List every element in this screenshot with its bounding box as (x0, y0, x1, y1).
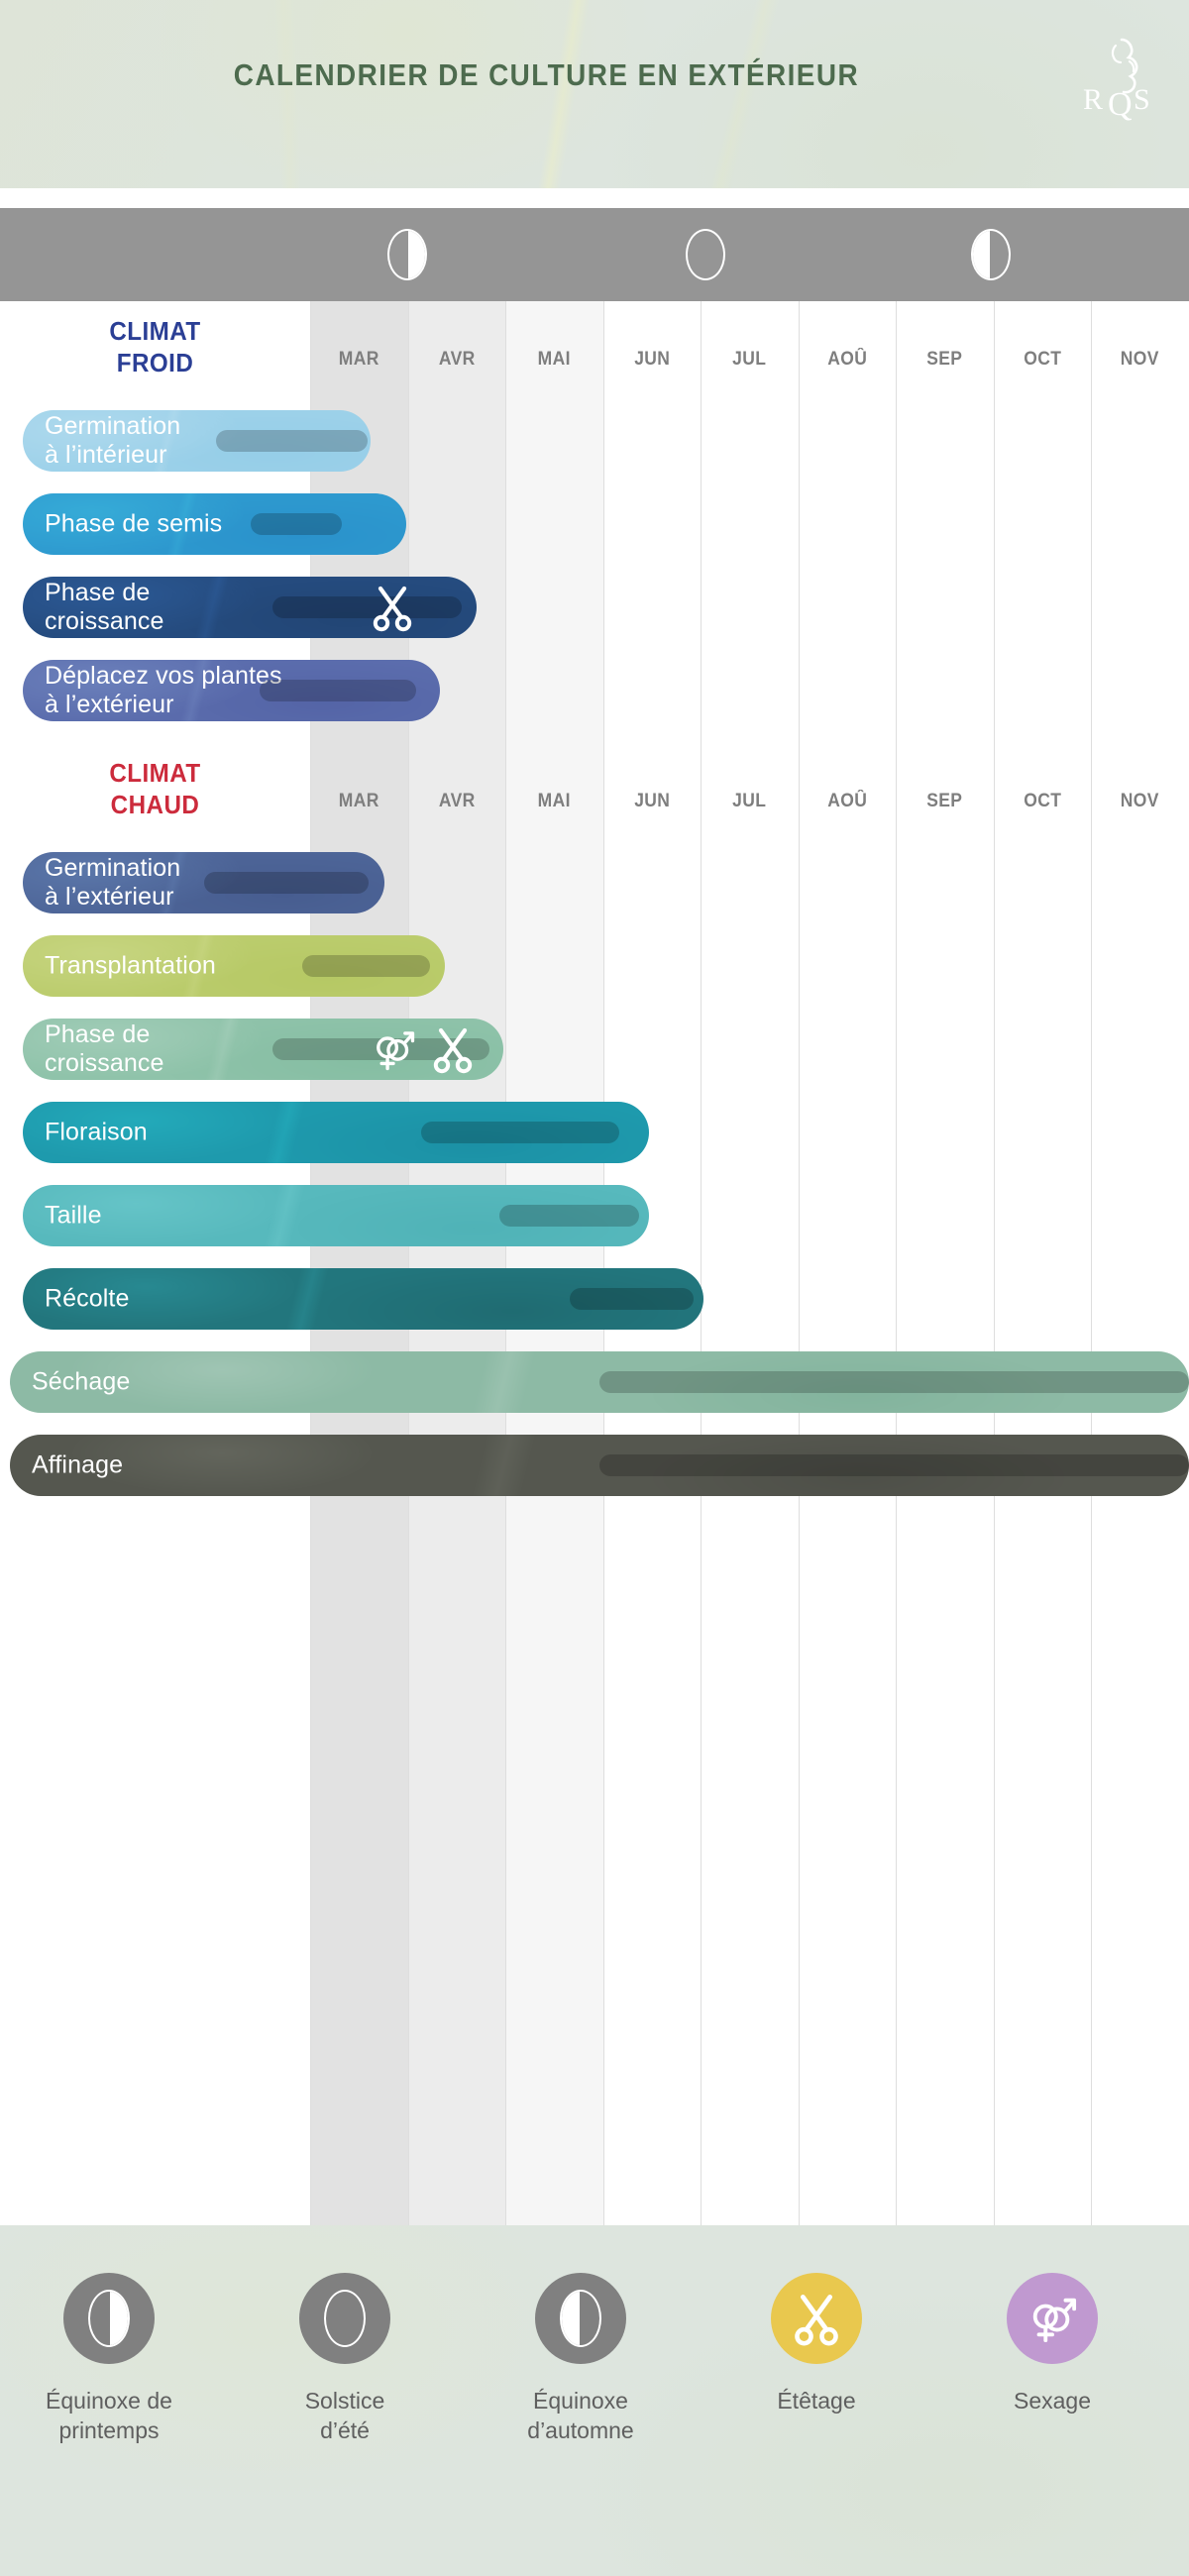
sexing-icon (1027, 2288, 1077, 2349)
bar-optimal-range (599, 1371, 1189, 1393)
page-header: CALENDRIER DE CULTURE EN EXTÉRIEUR R Q S (0, 0, 1189, 188)
month-label-aoû: AOÛ (802, 345, 892, 375)
month-column-shade (505, 301, 603, 2225)
month-gridline (994, 301, 995, 2225)
month-label-jul: JUL (704, 345, 795, 375)
bar-label: Séchage (32, 1368, 130, 1397)
month-label-nov: NOV (1095, 345, 1185, 375)
summer-solstice-moon-icon (686, 229, 725, 280)
legend-item[interactable]: Équinoxe de printemps (10, 2273, 208, 2445)
spring-equinox-moon-icon (387, 229, 427, 280)
calendar-bar[interactable]: Transplantation (23, 935, 445, 997)
bar-label: Phase de croissance (45, 1020, 164, 1078)
spring-equinox-moon-icon (88, 2290, 130, 2347)
month-label-nov: NOV (1095, 787, 1185, 816)
legend-item[interactable]: Étêtage (717, 2273, 916, 2415)
legend-item[interactable]: Solstice d’été (246, 2273, 444, 2445)
legend-icon-disc (771, 2273, 862, 2364)
moon-phase-bar (0, 208, 1189, 301)
legend-icon-disc (299, 2273, 390, 2364)
legend-label: Sexage (953, 2386, 1151, 2415)
legend-item[interactable]: Sexage (953, 2273, 1151, 2415)
spring-equinox-moon-icon-slot (387, 229, 427, 280)
legend-label: Solstice d’été (246, 2386, 444, 2445)
legend-label: Étêtage (717, 2386, 916, 2415)
bar-optimal-range (599, 1454, 1189, 1476)
month-label-aoû: AOÛ (802, 787, 892, 816)
autumn-equinox-moon-icon-slot (971, 229, 1011, 280)
bar-label: Affinage (32, 1451, 123, 1480)
calendar-bar[interactable]: Germination à l’extérieur (23, 852, 384, 913)
summer-solstice-moon-icon-slot (686, 229, 725, 280)
bar-optimal-range (302, 955, 430, 977)
month-gridline (505, 301, 506, 2225)
scissors-icon (371, 582, 414, 633)
bar-label: Germination à l’intérieur (45, 412, 180, 470)
page-title: CALENDRIER DE CULTURE EN EXTÉRIEUR (59, 57, 1130, 93)
legend-label: Équinoxe de printemps (10, 2386, 208, 2445)
month-gridline (799, 301, 800, 2225)
legend-item[interactable]: Équinoxe d’automne (482, 2273, 680, 2445)
month-label-avr: AVR (411, 345, 501, 375)
scissors-icon (431, 1023, 475, 1075)
svg-text:Q: Q (1108, 86, 1133, 123)
month-label-jul: JUL (704, 787, 795, 816)
bar-optimal-range (499, 1205, 639, 1227)
month-label-mai: MAI (509, 787, 599, 816)
calendar-bar[interactable]: Floraison (23, 1102, 649, 1163)
bar-optimal-range (272, 596, 462, 618)
bar-label: Déplacez vos plantes à l’extérieur (45, 662, 282, 719)
legend-footer: Équinoxe de printempsSolstice d’étéÉquin… (0, 2225, 1189, 2576)
calendar-bar[interactable]: Germination à l’intérieur (23, 410, 371, 472)
month-label-mai: MAI (509, 345, 599, 375)
svg-text:R: R (1083, 83, 1103, 116)
month-label-avr: AVR (411, 787, 501, 816)
month-gridline (603, 301, 604, 2225)
bar-optimal-range (216, 430, 368, 452)
legend-icon-disc (1007, 2273, 1098, 2364)
bar-label: Transplantation (45, 952, 216, 981)
bar-optimal-range (570, 1288, 694, 1310)
month-label-mar: MAR (314, 787, 404, 816)
legend-icon-disc (63, 2273, 155, 2364)
bar-optimal-range (260, 680, 416, 701)
legend-label: Équinoxe d’automne (482, 2386, 680, 2445)
legend-icon-disc (535, 2273, 626, 2364)
month-label-sep: SEP (900, 345, 990, 375)
month-label-jun: JUN (606, 787, 697, 816)
month-label-oct: OCT (997, 345, 1087, 375)
calendar-bar[interactable]: Phase de croissance (23, 577, 477, 638)
autumn-equinox-moon-icon (971, 229, 1011, 280)
month-label-sep: SEP (900, 787, 990, 816)
calendar-bar[interactable]: Phase de croissance (23, 1019, 503, 1080)
bar-optimal-range (421, 1122, 619, 1143)
calendar-bar[interactable]: Déplacez vos plantes à l’extérieur (23, 660, 440, 721)
svg-text:S: S (1134, 83, 1150, 116)
rqs-logo: R Q S (1078, 36, 1161, 127)
month-label-oct: OCT (997, 787, 1087, 816)
bar-label: Germination à l’extérieur (45, 854, 180, 912)
bar-label: Taille (45, 1202, 102, 1231)
month-gridline (1091, 301, 1092, 2225)
summer-solstice-moon-icon (324, 2290, 366, 2347)
month-label-jun: JUN (606, 345, 697, 375)
autumn-equinox-moon-icon (560, 2290, 601, 2347)
scissors-icon (792, 2288, 841, 2349)
bar-optimal-range (251, 513, 342, 535)
bar-label: Phase de croissance (45, 579, 164, 636)
month-gridline (896, 301, 897, 2225)
sexing-icon (372, 1023, 415, 1075)
leaf-texture-background (0, 0, 1189, 188)
calendar-bar[interactable]: Séchage (10, 1351, 1189, 1413)
calendar-bar[interactable]: Taille (23, 1185, 649, 1246)
bar-label: Phase de semis (45, 510, 222, 539)
bar-label: Récolte (45, 1285, 129, 1314)
calendar-bar[interactable]: Affinage (10, 1435, 1189, 1496)
bar-label: Floraison (45, 1119, 148, 1147)
calendar-bar[interactable]: Phase de semis (23, 493, 406, 555)
calendar-bar[interactable]: Récolte (23, 1268, 703, 1330)
month-header-row-cold: MARAVRMAIJUNJULAOÛSEPOCTNOV (0, 345, 1189, 375)
growing-calendar-chart: CLIMAT FROIDMARAVRMAIJUNJULAOÛSEPOCTNOVG… (0, 301, 1189, 2225)
bar-optimal-range (204, 872, 369, 894)
month-header-row-warm: MARAVRMAIJUNJULAOÛSEPOCTNOV (0, 787, 1189, 816)
month-label-mar: MAR (314, 345, 404, 375)
month-gridline (701, 301, 702, 2225)
